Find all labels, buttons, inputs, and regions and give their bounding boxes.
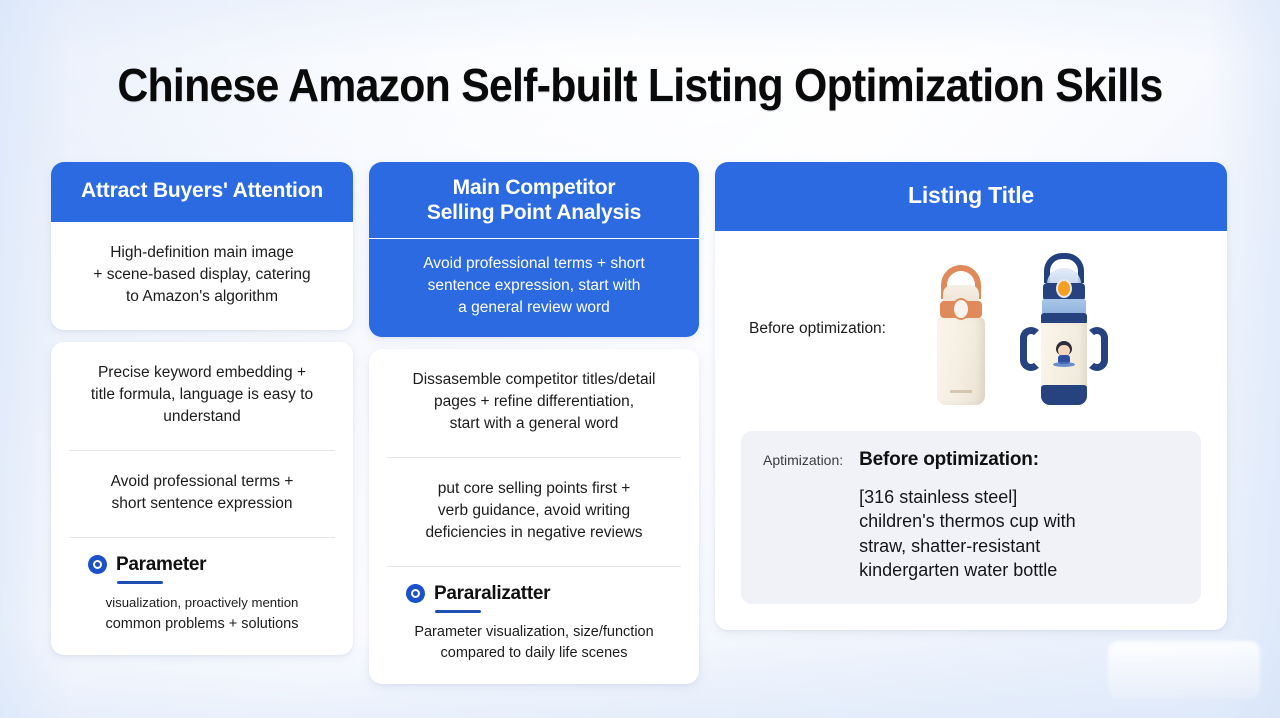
column-attract-buyers: Attract Buyers' Attention High-definitio… xyxy=(51,162,353,655)
card-column1-items: Precise keyword embedding + title formul… xyxy=(51,342,353,655)
column1-bullet-text-rest: common problems + solutions xyxy=(105,616,298,632)
cream-thermos-bottle-image xyxy=(930,265,992,405)
card-column2-header: Main Competitor Selling Point Analysis A… xyxy=(369,162,699,337)
product-images xyxy=(930,253,1110,405)
column2-bullet-text: Parameter visualization, size/functionco… xyxy=(387,613,681,664)
column2-bullet-text-lead: Parameter visualization, size/function xyxy=(414,624,653,640)
column2-item-1: put core selling points first + verb gui… xyxy=(369,458,699,566)
target-dot-icon xyxy=(88,555,107,574)
card-column1-header: Attract Buyers' Attention High-definitio… xyxy=(51,162,353,330)
before-optimization-row: Before optimization: xyxy=(741,253,1201,405)
panel-body: Before optimization: xyxy=(715,231,1227,630)
column2-header-subtext: Avoid professional terms + short sentenc… xyxy=(369,239,699,337)
column1-bullet-block: Parameter visualization, proactively men… xyxy=(51,538,353,655)
navy-kids-straw-bottle-image xyxy=(1018,253,1110,405)
column1-bullet-title: Parameter xyxy=(116,554,206,576)
column-listing-title: Listing Title Before optimization: xyxy=(715,162,1227,630)
column2-bullet-row: Pararalizatter xyxy=(387,583,681,605)
before-optimization-label: Before optimization: xyxy=(741,320,886,338)
column1-bullet-row: Parameter xyxy=(69,554,335,576)
column2-bullet-title: Pararalizatter xyxy=(434,583,550,605)
column2-bullet-text-rest: compared to daily life scenes xyxy=(441,645,628,661)
info-box-small-label: Aptimization: xyxy=(763,449,843,582)
column1-bullet-text-lead: visualization, proactively mention xyxy=(106,595,299,610)
info-box-bold-title: Before optimization: xyxy=(859,449,1076,471)
column1-item-1: Precise keyword embedding + title formul… xyxy=(51,342,353,450)
column2-bullet-block: Pararalizatter Parameter visualization, … xyxy=(369,567,699,684)
card-listing-panel: Listing Title Before optimization: xyxy=(715,162,1227,630)
card-column2-items: Dissasemble competitor titles/detail pag… xyxy=(369,349,699,684)
panel-header-title: Listing Title xyxy=(715,162,1227,231)
column2-header-title: Main Competitor Selling Point Analysis xyxy=(369,162,699,238)
column1-bullet-text: visualization, proactively mentioncommon… xyxy=(69,584,335,635)
column1-item-0: High-definition main image + scene-based… xyxy=(51,222,353,330)
column1-item-2: Avoid professional terms + short sentenc… xyxy=(51,451,353,537)
column2-item-0: Dissasemble competitor titles/detail pag… xyxy=(369,349,699,457)
optimization-info-box: Aptimization: Before optimization: [316 … xyxy=(741,431,1201,604)
page-title: Chinese Amazon Self-built Listing Optimi… xyxy=(45,58,1235,112)
column1-header-title: Attract Buyers' Attention xyxy=(51,162,353,222)
column-main-competitor: Main Competitor Selling Point Analysis A… xyxy=(369,162,699,684)
target-dot-icon xyxy=(406,584,425,603)
info-box-product-title: [316 stainless steel] children's thermos… xyxy=(859,485,1076,582)
info-box-content: Before optimization: [316 stainless stee… xyxy=(859,449,1076,582)
background-artifact xyxy=(1108,641,1260,699)
